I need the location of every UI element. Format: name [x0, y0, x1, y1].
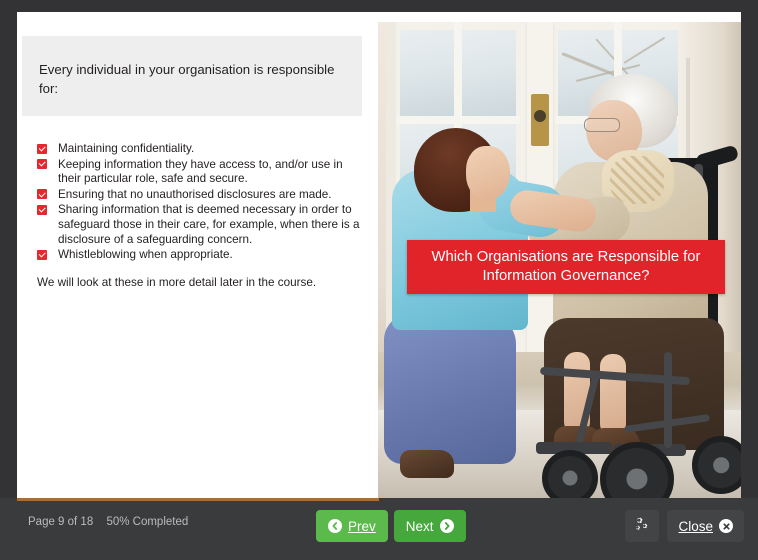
chevron-right-circle-icon: [440, 519, 454, 533]
wheelchair-rear-wheel: [692, 436, 741, 494]
navigation-buttons: Prev Next: [316, 510, 466, 542]
page-counter: Page 9 of 18: [28, 516, 93, 528]
question-banner-text: Which Organisations are Responsible for …: [407, 248, 725, 286]
wheelchair-frame-bar: [664, 352, 672, 448]
wheelchair-caster-wheel: [542, 450, 598, 498]
list-item-label: Whistleblowing when appropriate.: [58, 248, 233, 261]
chevron-left-circle-icon: [328, 519, 342, 533]
list-item: Keeping information they have access to,…: [37, 158, 367, 187]
checkbox-icon: [37, 144, 47, 154]
eyeglasses-icon: [584, 118, 620, 132]
close-circle-icon: [719, 519, 733, 533]
responsibility-list: Maintaining confidentiality. Keeping inf…: [37, 142, 367, 290]
slide-stage: Every individual in your organisation is…: [17, 12, 741, 498]
checkbox-icon: [37, 250, 47, 260]
carer-face: [466, 146, 510, 200]
list-item: Maintaining confidentiality.: [37, 142, 367, 157]
checkbox-icon: [37, 189, 47, 199]
list-item: Sharing information that is deemed neces…: [37, 203, 367, 247]
next-button-label: Next: [406, 519, 434, 534]
page-status: Page 9 of 18 50% Completed: [28, 516, 198, 528]
progress-bar: [17, 498, 741, 501]
completion-percent: 50% Completed: [106, 516, 188, 528]
door-lock-icon: [534, 110, 546, 122]
closing-note: We will look at these in more detail lat…: [37, 275, 367, 290]
list-item-label: Keeping information they have access to,…: [58, 158, 343, 186]
question-banner: Which Organisations are Responsible for …: [407, 240, 725, 294]
close-button[interactable]: Close: [667, 510, 744, 542]
list-item-label: Sharing information that is deemed neces…: [58, 203, 359, 245]
slide-text-column: Every individual in your organisation is…: [17, 12, 378, 498]
callout-heading: Every individual in your organisation is…: [39, 60, 339, 98]
list-item: Whistleblowing when appropriate.: [37, 248, 367, 263]
list-item: Ensuring that no unauthorised disclosure…: [37, 188, 367, 203]
progress-bar-fill: [17, 498, 379, 501]
close-button-label: Close: [678, 519, 713, 534]
cogs-icon: [633, 515, 651, 538]
utility-buttons: Close: [625, 510, 744, 542]
prev-button-label: Prev: [348, 519, 376, 534]
list-item-label: Maintaining confidentiality.: [58, 142, 194, 155]
elderly-woman-leg: [600, 354, 626, 436]
settings-button[interactable]: [625, 510, 659, 542]
course-player: Every individual in your organisation is…: [0, 0, 758, 560]
prev-button[interactable]: Prev: [316, 510, 388, 542]
slide-photo: Which Organisations are Responsible for …: [378, 22, 741, 498]
checkbox-icon: [37, 159, 47, 169]
checkbox-icon: [37, 205, 47, 215]
list-item-label: Ensuring that no unauthorised disclosure…: [58, 188, 332, 201]
carer-trousers: [384, 314, 516, 464]
carer-shoe: [400, 450, 454, 478]
next-button[interactable]: Next: [394, 510, 466, 542]
